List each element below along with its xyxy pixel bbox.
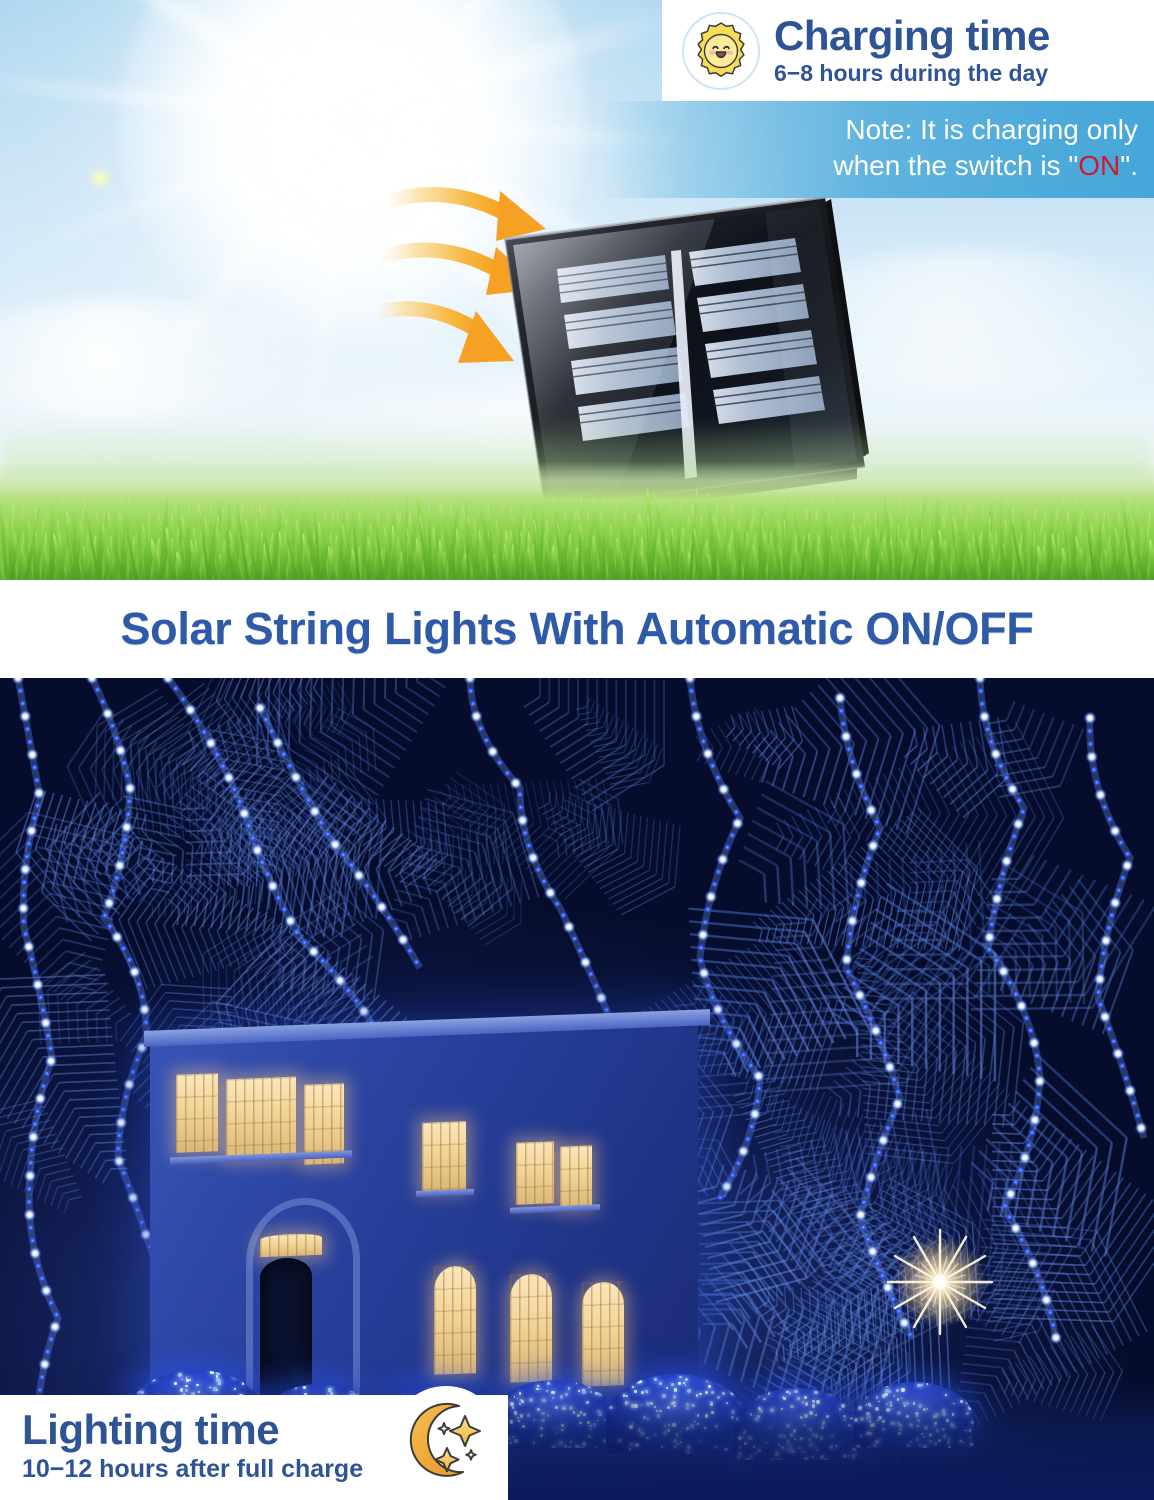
lens-flare-dot (90, 168, 110, 188)
charging-time-card: Charging time 6−8 hours during the day (662, 0, 1154, 101)
charging-time-text: Charging time 6−8 hours during the day (774, 15, 1140, 86)
product-banner: Solar String Lights With Automatic ON/OF… (0, 580, 1154, 678)
window (516, 1141, 554, 1204)
lighting-time-card: Lighting time 10−12 hours after full cha… (0, 1395, 508, 1500)
night-scene-photo (0, 678, 1154, 1500)
window (434, 1265, 476, 1375)
grass-blade (148, 525, 151, 580)
charging-time-title: Charging time (774, 15, 1140, 58)
grass-blade (443, 552, 446, 580)
crescent-moon-stars-icon (394, 1389, 498, 1493)
product-infographic: Charging time 6−8 hours during the day N… (0, 0, 1154, 1500)
charging-note-text: Note: It is charging only when the switc… (833, 112, 1138, 183)
window (226, 1077, 296, 1160)
window (176, 1073, 218, 1153)
note-line-2-suffix: ". (1120, 150, 1138, 181)
grass-field (0, 462, 1154, 580)
charging-time-subtitle: 6−8 hours during the day (774, 60, 1140, 86)
sun-face-icon (682, 12, 760, 90)
note-on-highlight: ON (1078, 150, 1120, 181)
lighting-time-title: Lighting time (22, 1409, 384, 1451)
window (422, 1121, 466, 1191)
lighting-time-subtitle: 10−12 hours after full charge (22, 1455, 384, 1484)
grass-blade (1033, 532, 1036, 580)
note-line-2-prefix: when the switch is " (833, 150, 1078, 181)
note-line-1: Note: It is charging only (845, 114, 1138, 145)
grass-blade (1056, 534, 1060, 580)
transom-window (260, 1233, 322, 1257)
banner-title: Solar String Lights With Automatic ON/OF… (120, 603, 1033, 655)
window (560, 1145, 592, 1208)
lighting-time-text: Lighting time 10−12 hours after full cha… (22, 1409, 384, 1484)
charging-note-band: Note: It is charging only when the switc… (599, 101, 1154, 198)
